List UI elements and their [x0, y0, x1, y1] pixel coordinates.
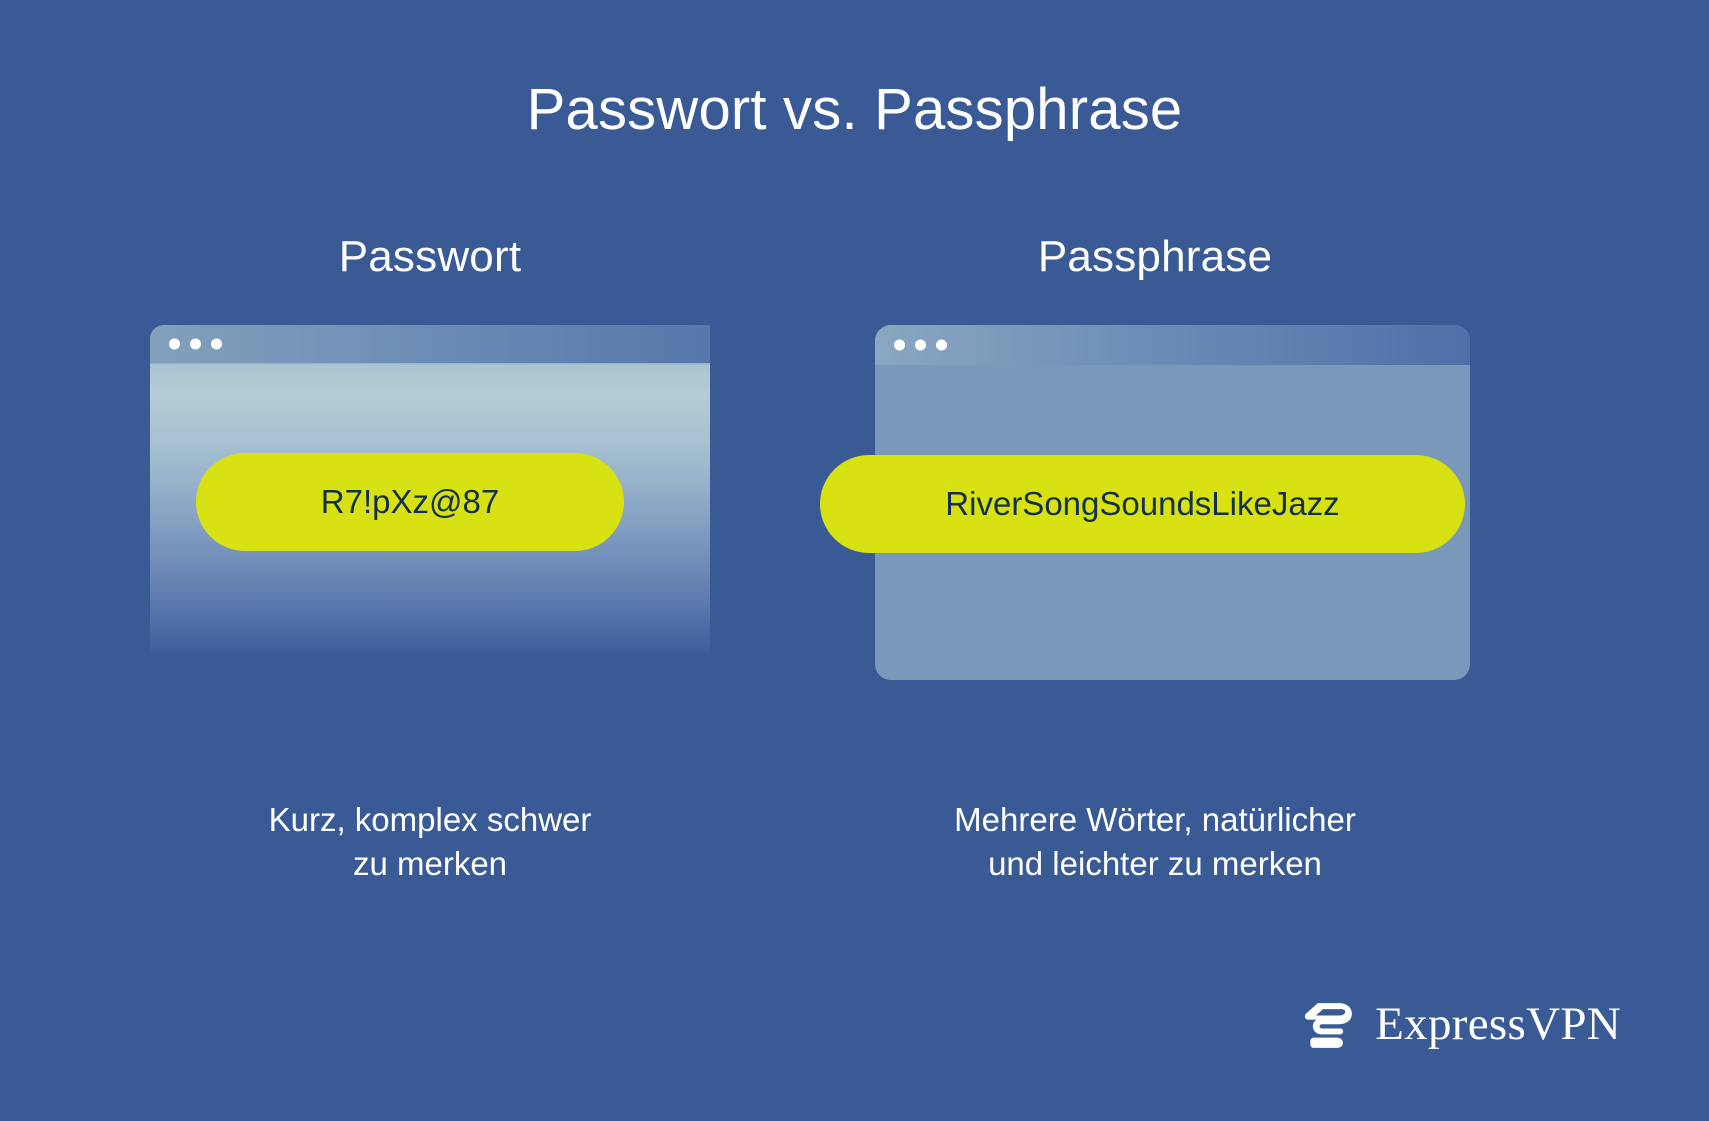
- caption-line-2: und leichter zu merken: [845, 842, 1465, 886]
- window-dot-icon[interactable]: [936, 339, 947, 350]
- window-dot-icon[interactable]: [190, 338, 201, 349]
- window-titlebar: [875, 325, 1470, 365]
- passphrase-value: RiverSongSoundsLikeJazz: [945, 485, 1339, 523]
- column-heading-passphrase: Passphrase: [845, 232, 1465, 283]
- column-passphrase: Passphrase RiverSongSoundsLikeJazz: [845, 232, 1465, 665]
- expressvpn-e-mark-icon: [1296, 993, 1358, 1055]
- column-heading-passwort: Passwort: [120, 232, 740, 283]
- caption-line-1: Mehrere Wörter, natürlicher: [845, 798, 1465, 842]
- window-dot-icon[interactable]: [169, 338, 180, 349]
- window-dot-icon[interactable]: [894, 339, 905, 350]
- caption-line-1: Kurz, komplex schwer: [120, 798, 740, 842]
- card-wrap-passphrase: RiverSongSoundsLikeJazz: [845, 325, 1465, 665]
- window-controls: [894, 339, 947, 350]
- caption-passwort: Kurz, komplex schwer zu merken: [120, 798, 740, 885]
- expressvpn-wordmark: ExpressVPN: [1375, 1001, 1621, 1048]
- card-wrap-passwort: R7!pXz@87: [120, 325, 740, 665]
- passphrase-pill[interactable]: RiverSongSoundsLikeJazz: [820, 455, 1465, 553]
- page-title: Passwort vs. Passphrase: [0, 78, 1709, 142]
- expressvpn-logo: ExpressVPN: [1296, 993, 1621, 1055]
- window-titlebar: [150, 325, 710, 363]
- window-dot-icon[interactable]: [211, 338, 222, 349]
- caption-line-2: zu merken: [120, 842, 740, 886]
- infographic-canvas: Passwort vs. Passphrase Passwort R7!pXz@…: [0, 0, 1709, 1121]
- column-passwort: Passwort R7!pXz@87: [120, 232, 740, 665]
- window-dot-icon[interactable]: [915, 339, 926, 350]
- window-controls: [169, 338, 222, 349]
- caption-passphrase: Mehrere Wörter, natürlicher und leichter…: [845, 798, 1465, 885]
- password-pill[interactable]: R7!pXz@87: [196, 453, 624, 551]
- password-value: R7!pXz@87: [321, 483, 499, 521]
